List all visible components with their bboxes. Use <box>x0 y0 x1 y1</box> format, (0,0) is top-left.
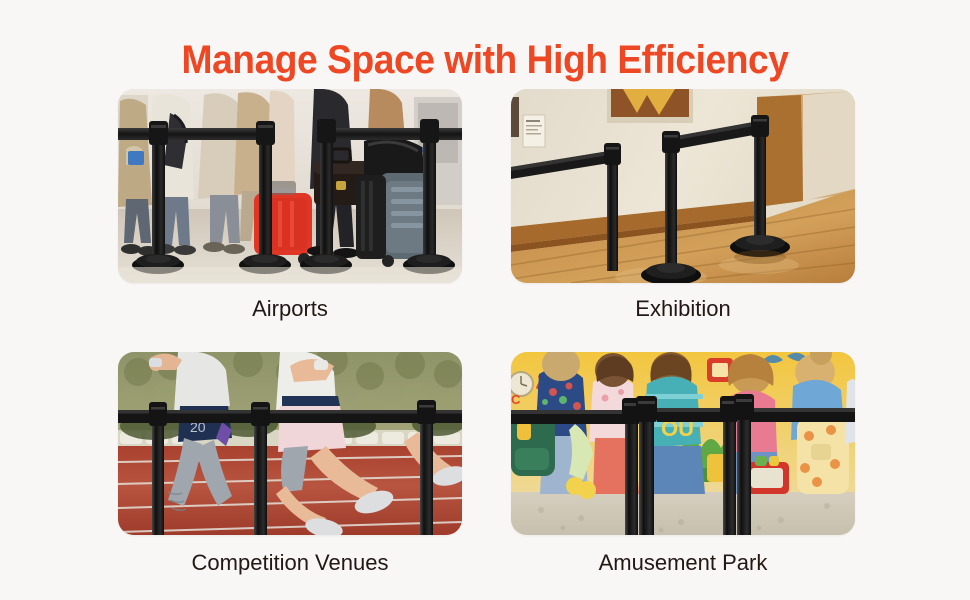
caption-airports: Airports <box>118 296 462 322</box>
feature-card-exhibition[interactable]: Exhibition <box>511 89 855 322</box>
photo-competition-venues: 20 <box>118 352 462 535</box>
promo-banner: Manage Space with High Efficiency <box>0 0 970 600</box>
photo-exhibition <box>511 89 855 283</box>
photo-airports <box>118 89 462 283</box>
feature-card-amusement-park[interactable]: C <box>511 352 855 576</box>
feature-card-competition-venues[interactable]: 20 <box>118 352 462 576</box>
svg-text:C: C <box>511 392 521 407</box>
caption-competition-venues: Competition Venues <box>118 550 462 576</box>
caption-exhibition: Exhibition <box>511 296 855 322</box>
feature-card-airports[interactable]: Airports <box>118 89 462 322</box>
caption-amusement-park: Amusement Park <box>511 550 855 576</box>
page-title: Manage Space with High Efficiency <box>34 36 936 84</box>
feature-grid: Airports <box>118 89 855 569</box>
photo-amusement-park: C <box>511 352 855 535</box>
